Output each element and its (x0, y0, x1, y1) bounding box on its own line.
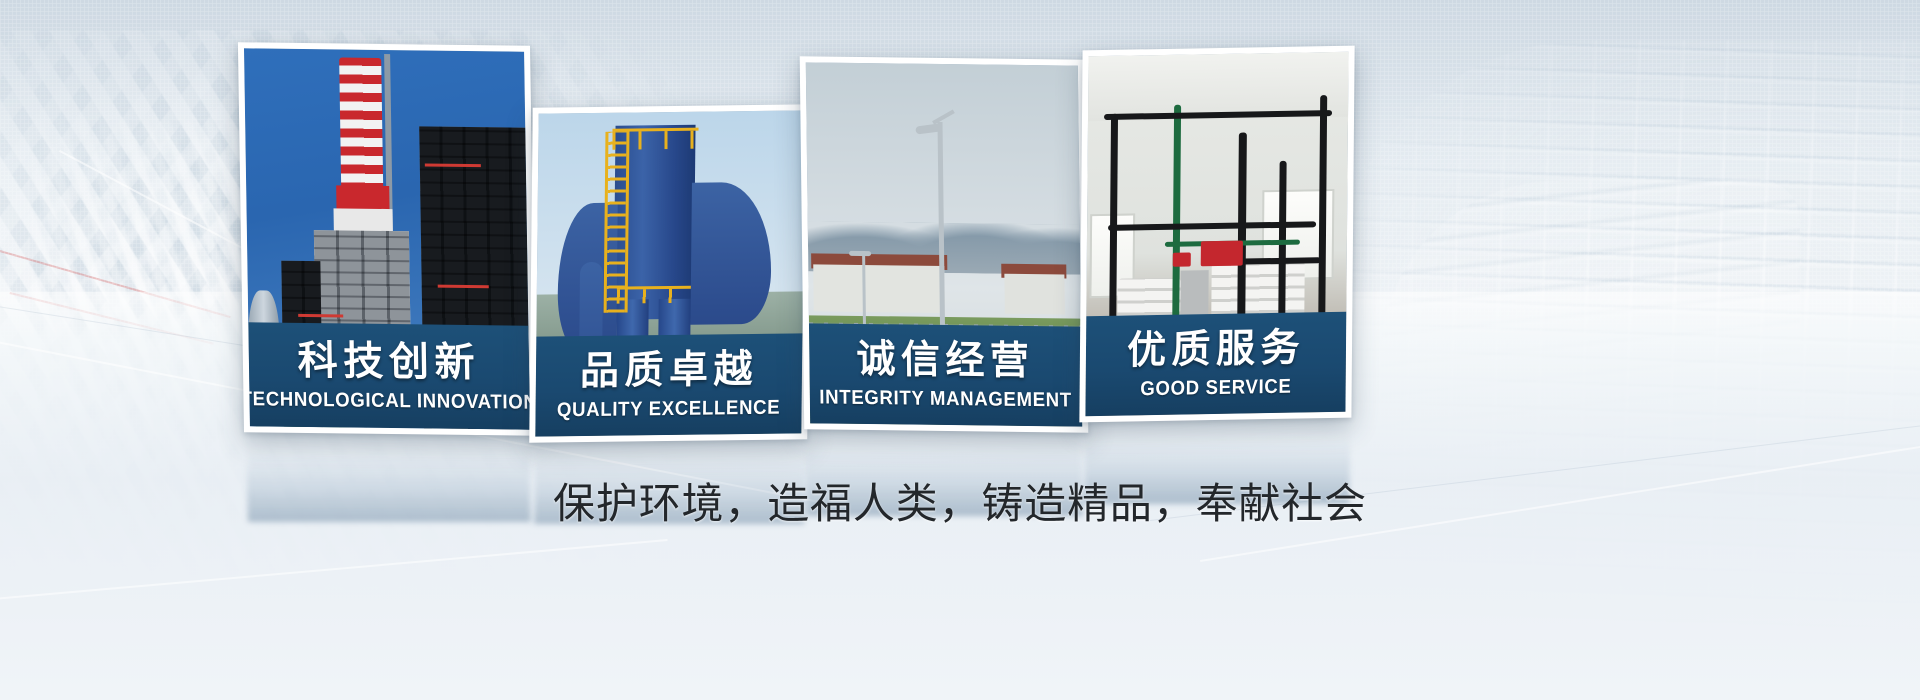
banner-tagline: 保护环境，造福人类，铸造精品，奉献社会 (0, 470, 1920, 531)
warning-sign-small (1173, 252, 1191, 267)
panel-good-service[interactable]: 优质服务 GOOD SERVICE (1079, 46, 1354, 423)
panel-3-inner: 诚信经营 INTEGRITY MANAGEMENT (806, 62, 1082, 426)
panel-1-inner: 科技创新 TECHNOLOGICAL INNOVATION (244, 48, 530, 429)
panel-3-caption-band: 诚信经营 INTEGRITY MANAGEMENT (809, 323, 1082, 426)
banner-stage: 科技创新 TECHNOLOGICAL INNOVATION (0, 0, 1920, 700)
panel-2-caption-cn: 品质卓越 (580, 350, 758, 391)
panel-technological-innovation[interactable]: 科技创新 TECHNOLOGICAL INNOVATION (238, 42, 536, 436)
street-lamp-head-2 (849, 251, 871, 256)
panel-3-caption-en: INTEGRITY MANAGEMENT (820, 387, 1073, 410)
red-stripe-1 (299, 313, 344, 317)
plant-building (814, 265, 945, 314)
panel-1-caption-cn: 科技创新 (297, 340, 480, 382)
panel-3-caption-cn: 诚信经营 (856, 340, 1034, 381)
red-stripe-3 (438, 285, 488, 289)
panel-4-caption-band: 优质服务 GOOD SERVICE (1085, 312, 1346, 417)
panel-4-caption-en: GOOD SERVICE (1140, 377, 1291, 400)
panel-integrity-management[interactable]: 诚信经营 INTEGRITY MANAGEMENT (800, 56, 1089, 432)
panel-2-caption-en: QUALITY EXCELLENCE (557, 398, 780, 421)
secondary-building (1004, 274, 1064, 314)
panel-2-caption-band: 品质卓越 QUALITY EXCELLENCE (535, 333, 802, 436)
panel-1-caption-en: TECHNOLOGICAL INNOVATION (244, 389, 530, 413)
platform-railing (613, 128, 698, 150)
panel-4-caption-cn: 优质服务 (1127, 328, 1305, 370)
chimney-spiral-band (339, 57, 383, 201)
panel-quality-excellence[interactable]: 品质卓越 QUALITY EXCELLENCE (529, 104, 811, 442)
caged-ladder (603, 132, 630, 313)
panel-2-inner: 品质卓越 QUALITY EXCELLENCE (535, 110, 804, 436)
panel-4-inner: 优质服务 GOOD SERVICE (1085, 52, 1348, 417)
platform-railing-lower (616, 286, 691, 304)
warning-sign-large (1201, 241, 1243, 267)
panel-1-caption-band: 科技创新 TECHNOLOGICAL INNOVATION (248, 322, 530, 429)
